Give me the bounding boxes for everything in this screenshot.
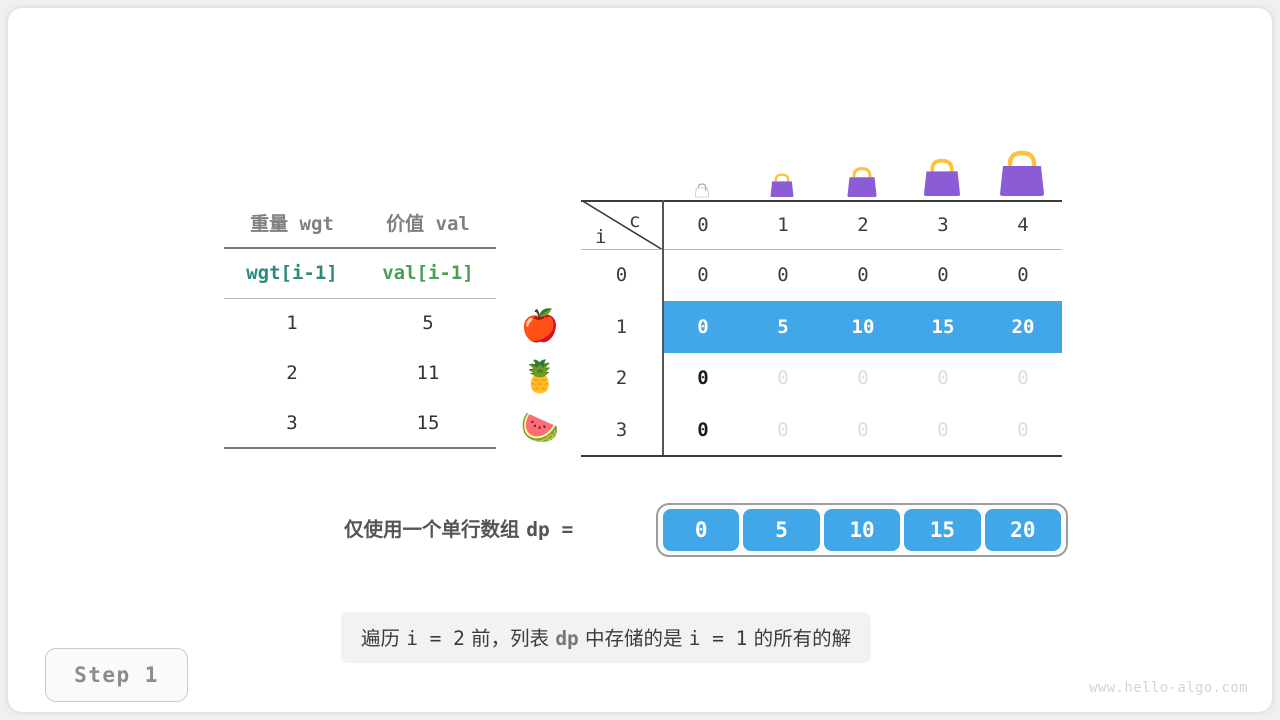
weight-value-table: 重量 wgt 价值 val wgt[i-1] val[i-1] 1 5 2 11 [224,198,496,449]
bag-size-4-icon [982,134,1062,198]
table-header-row: 重量 wgt 价值 val [224,198,496,248]
header-value: 价值 val [360,198,496,248]
cell-wgt: 2 [224,348,360,398]
header-weight: 重量 wgt [224,198,360,248]
matrix-cell: 0 [823,250,903,302]
cell-wgt: 3 [224,398,360,448]
matrix-cell: 0 [743,405,823,457]
pineapple-icon: 🍍 [520,357,560,397]
table-row: 3 15 [224,398,496,448]
matrix-cell: 0 [903,405,983,457]
matrix-cell: 0 [743,250,823,302]
illustration-card: 重量 wgt 价值 val wgt[i-1] val[i-1] 1 5 2 11 [8,8,1272,712]
dp-array-cell: 15 [904,509,980,551]
matrix-cell: 0 [983,405,1063,457]
dp-label-mono: dp = [526,518,573,541]
matrix-cell: 0 [823,353,903,405]
matrix-row: 300000 [581,405,1062,457]
table-row: 2 11 [224,348,496,398]
caption-seg-3: 前，列表 [465,627,555,650]
matrix-bottom-rule [581,455,1062,457]
subheader-wgt-index: wgt[i-1] [224,248,360,298]
matrix-cell: 10 [823,302,903,354]
matrix-col-header: 3 [903,200,983,250]
matrix-col-header: 1 [743,200,823,250]
matrix-cell: 0 [663,250,743,302]
matrix-row: 200000 [581,353,1062,405]
dp-array-cell: 20 [985,509,1061,551]
matrix-row-header: 3 [581,405,662,457]
cell-val: 15 [360,398,496,448]
matrix-col-header: 0 [663,200,743,250]
watermelon-icon: 🍉 [520,408,560,448]
matrix-cell: 0 [663,302,743,354]
matrix-cell: 5 [743,302,823,354]
bag-empty-icon [662,134,742,198]
matrix-cell: 20 [983,302,1063,354]
matrix-row: 000000 [581,250,1062,302]
caption-seg-dp: dp [555,627,578,650]
bag-size-1-icon [742,134,822,198]
dp-array-container: 05101520 [656,503,1068,557]
matrix-vertical-divider [662,200,664,455]
matrix-cell: 0 [983,353,1063,405]
step-badge: Step 1 [45,648,188,702]
matrix-cell: 0 [823,405,903,457]
watermark: www.hello-algo.com [1089,680,1248,696]
matrix-row-header: 0 [581,250,662,302]
cell-val: 5 [360,298,496,348]
caption-seg-1: 遍历 [361,627,406,650]
matrix-cell: 0 [743,353,823,405]
bag-size-2-icon [822,134,902,198]
dp-label-text: 仅使用一个单行数组 [344,518,526,541]
matrix-cell: 0 [663,353,743,405]
matrix-col-header: 2 [823,200,903,250]
dp-array-cell: 10 [824,509,900,551]
dp-array-label: 仅使用一个单行数组 dp = [344,513,573,542]
matrix-row-header: 1 [581,302,662,354]
matrix-row-axis-label: i [595,226,606,248]
dp-array-cell: 0 [663,509,739,551]
caption-text: 遍历 i = 2 前，列表 dp 中存储的是 i = 1 的所有的解 [341,612,871,663]
subheader-val-index: val[i-1] [360,248,496,298]
matrix-cell: 15 [903,302,983,354]
matrix-cell: 0 [903,353,983,405]
matrix-row: 105101520 [581,302,1062,354]
apple-icon: 🍎 [520,306,560,346]
matrix-row-header: 2 [581,353,662,405]
caption-seg-2: i = 2 [406,627,465,650]
corner-diagonal-icon [581,200,663,250]
matrix-col-header: 4 [983,200,1063,250]
bag-size-3-icon [902,134,982,198]
matrix-cell: 0 [983,250,1063,302]
matrix-cell: 0 [663,405,743,457]
knapsack-capacity-icons [662,134,1062,198]
table-subheader-row: wgt[i-1] val[i-1] [224,248,496,298]
dp-array-cell: 5 [743,509,819,551]
table-row: 1 5 [224,298,496,348]
matrix-cell: 0 [903,250,983,302]
caption-seg-5: 中存储的是 [579,627,689,650]
caption-seg-6: i = 1 [689,627,748,650]
cell-val: 11 [360,348,496,398]
caption-seg-7: 的所有的解 [747,627,851,650]
matrix-col-axis-label: c [629,210,640,232]
cell-wgt: 1 [224,298,360,348]
